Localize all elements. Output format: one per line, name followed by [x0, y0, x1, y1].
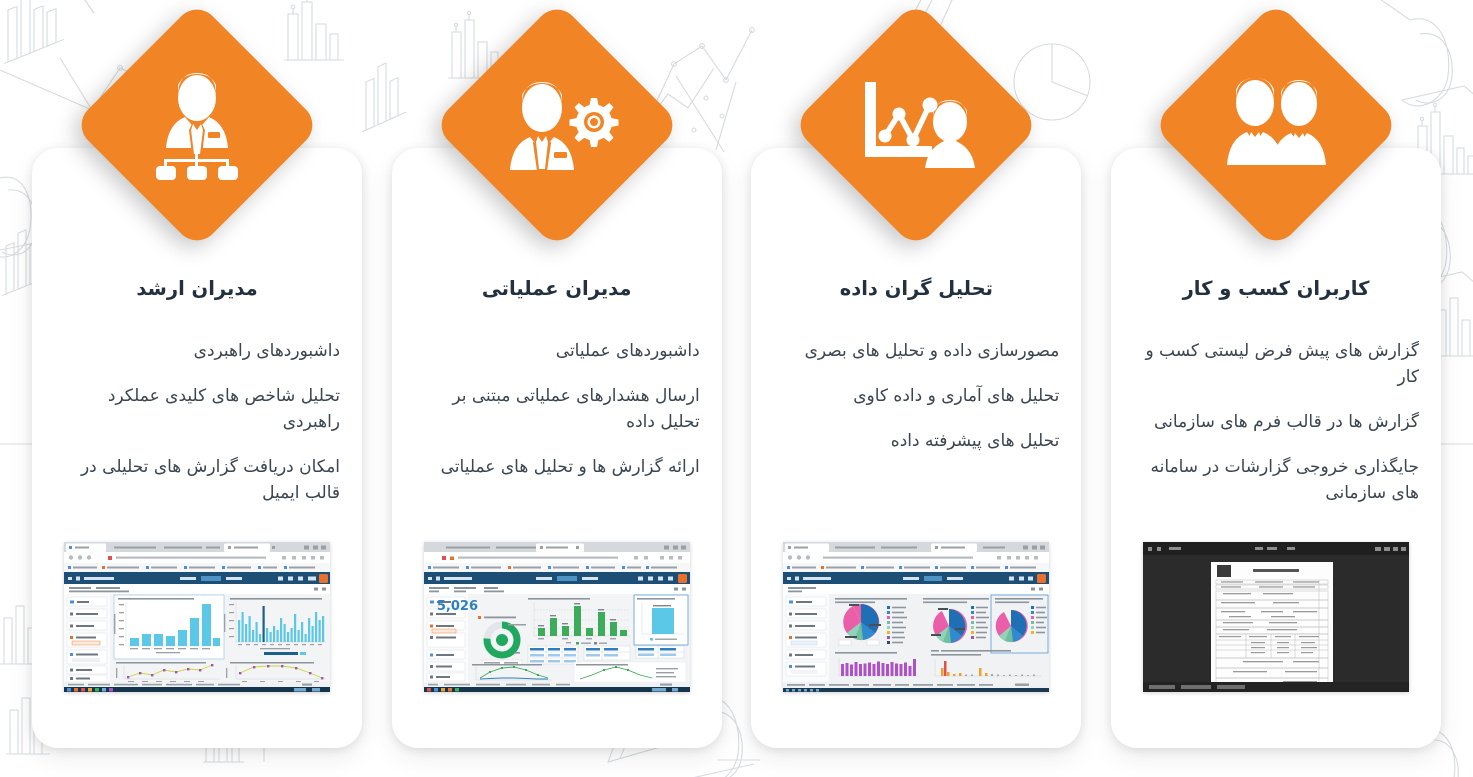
card-bullet-list: داشبوردهای راهبردی تحلیل شاخص های کلیدی …	[46, 339, 348, 506]
card-bullet-list: مصورسازی داده و تحلیل های بصری تحلیل های…	[765, 339, 1067, 454]
kpi-operational-dashboard-thumbnail[interactable]: 5,026	[424, 542, 690, 692]
persona-card-business-users[interactable]: کاربران کسب و کار گزارش های پیش فرض لیست…	[1111, 148, 1441, 748]
card-bullet-list: داشبوردهای عملیاتی ارسال هشدارهای عملیات…	[406, 339, 708, 480]
persona-card-data-analysts[interactable]: تحلیل گران داده مصورسازی داده و تحلیل ها…	[751, 148, 1081, 748]
pdf-form-report-thumbnail[interactable]	[1143, 542, 1409, 692]
list-item: مصورسازی داده و تحلیل های بصری	[765, 339, 1067, 365]
card-title: کاربران کسب و کار	[1183, 276, 1370, 301]
card-title: مدیران ارشد	[136, 276, 257, 301]
list-item: داشبوردهای راهبردی	[46, 339, 348, 365]
diamond-badge	[1151, 0, 1401, 250]
diamond-badge	[432, 0, 682, 250]
list-item: جایگذاری خروجی گزارشات در سامانه های ساز…	[1125, 455, 1427, 507]
list-item: تحلیل های آماری و داده کاوی	[765, 384, 1067, 410]
strategic-dashboard-thumbnail[interactable]	[64, 542, 330, 692]
list-item: امکان دریافت گزارش های تحلیلی در قالب ای…	[46, 455, 348, 507]
kpi-value: 5,026	[437, 599, 478, 614]
list-item: گزارش های پیش فرض لیستی کسب و کار	[1125, 339, 1427, 391]
list-item: داشبوردهای عملیاتی	[406, 339, 708, 365]
card-title: تحلیل گران داده	[840, 276, 993, 301]
persona-card-operational-managers[interactable]: مدیران عملیاتی داشبوردهای عملیاتی ارسال …	[392, 148, 722, 748]
list-item: ارائه گزارش ها و تحلیل های عملیاتی	[406, 455, 708, 481]
pie-chart-dashboard-thumbnail[interactable]	[783, 542, 1049, 692]
diamond-shape	[1152, 1, 1401, 250]
diamond-badge	[72, 0, 322, 250]
list-item: تحلیل های پیشرفته داده	[765, 429, 1067, 455]
two-business-users-icon	[1211, 70, 1341, 180]
persona-card-row: کاربران کسب و کار گزارش های پیش فرض لیست…	[0, 0, 1473, 777]
diamond-badge	[791, 0, 1041, 250]
org-chart-executive-icon	[132, 70, 262, 180]
diamond-shape	[432, 1, 681, 250]
persona-card-executives[interactable]: مدیران ارشد داشبوردهای راهبردی تحلیل شاخ…	[32, 148, 362, 748]
list-item: تحلیل شاخص های کلیدی عملکرد راهبردی	[46, 384, 348, 436]
diamond-shape	[792, 1, 1041, 250]
manager-gear-icon	[492, 70, 622, 180]
diamond-shape	[73, 1, 322, 250]
card-bullet-list: گزارش های پیش فرض لیستی کسب و کار گزارش …	[1125, 339, 1427, 506]
list-item: ارسال هشدارهای عملیاتی مبتنی بر تحلیل دا…	[406, 384, 708, 436]
chart-analyst-icon	[851, 70, 981, 180]
list-item: گزارش ها در قالب فرم های سازمانی	[1125, 410, 1427, 436]
card-title: مدیران عملیاتی	[482, 276, 632, 301]
